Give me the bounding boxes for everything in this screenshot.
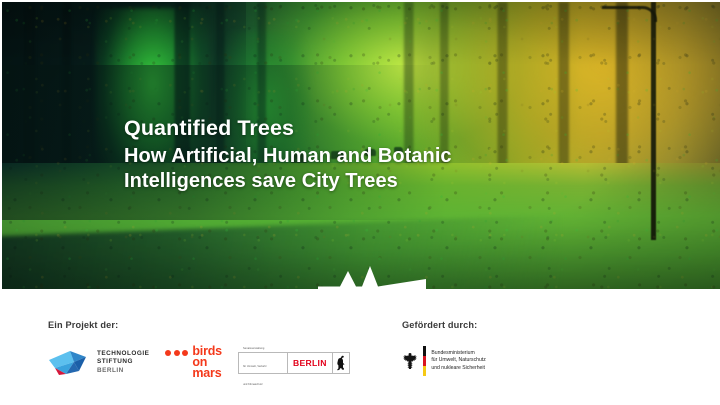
- bmu-line-1: Bundesministerium: [431, 350, 485, 357]
- headline-block: Quantified Trees How Artificial, Human a…: [124, 116, 584, 193]
- page-subtitle-line-2: Intelligences save City Trees: [124, 169, 584, 194]
- hero-image: Quantified Trees How Artificial, Human a…: [2, 2, 720, 289]
- bmu-wordmark: Bundesministerium für Umwelt, Naturschut…: [431, 350, 485, 372]
- birds-on-mars-wordmark: birds on mars: [192, 346, 222, 379]
- page-title: Quantified Trees: [124, 116, 584, 141]
- bear-icon: [336, 355, 346, 371]
- tsb-line-1: TECHNOLOGIE: [97, 350, 149, 359]
- title-slide: Quantified Trees How Artificial, Human a…: [0, 0, 720, 405]
- logo-land-berlin[interactable]: Senatsverwaltung für Umwelt, Verkehr und…: [238, 352, 350, 374]
- page-subtitle-line-1: How Artificial, Human and Botanic: [124, 144, 584, 169]
- funder-logo-row: Bundesministerium für Umwelt, Naturschut…: [402, 346, 486, 376]
- senate-line-3: und Klimaschutz: [243, 383, 263, 386]
- bom-line-3: mars: [192, 368, 222, 379]
- berlin-bear-crest: [333, 353, 349, 373]
- bmu-line-2: für Umwelt, Naturschutz: [431, 357, 485, 364]
- logo-bundesministerium-umwelt[interactable]: Bundesministerium für Umwelt, Naturschut…: [402, 346, 486, 376]
- bmu-line-3: und nukleare Sicherheit: [431, 365, 485, 372]
- senate-line-1: Senatsverwaltung: [243, 347, 264, 350]
- partners-label: Ein Projekt der:: [48, 289, 350, 330]
- federal-eagle-icon: [402, 352, 418, 370]
- tsb-line-3: BERLIN: [97, 367, 149, 376]
- funders-label: Gefördert durch:: [402, 289, 486, 330]
- german-flag-bar-icon: [423, 346, 426, 376]
- footer-column-funders: Gefördert durch: Bundesministerium für U…: [402, 289, 486, 376]
- partner-logo-row: TECHNOLOGIE STIFTUNG BERLIN birds on mar…: [48, 346, 350, 379]
- senate-line-2: für Umwelt, Verkehr: [243, 365, 267, 368]
- footer-bar: Ein Projekt der: TECHNOLOGIE STIFTUNG: [0, 289, 720, 405]
- berlin-senate-department: Senatsverwaltung für Umwelt, Verkehr und…: [239, 353, 288, 373]
- footer-column-partners: Ein Projekt der: TECHNOLOGIE STIFTUNG: [48, 289, 350, 379]
- tsb-line-2: STIFTUNG: [97, 358, 149, 367]
- technologiestiftung-mark-icon: [48, 348, 90, 378]
- birds-on-mars-dots-icon: [165, 346, 188, 356]
- logo-technologiestiftung-berlin[interactable]: TECHNOLOGIE STIFTUNG BERLIN: [48, 348, 149, 378]
- berlin-wordmark: BERLIN: [288, 353, 333, 373]
- berlin-wordmark-text: BERLIN: [293, 358, 327, 368]
- logo-birds-on-mars[interactable]: birds on mars: [165, 346, 222, 379]
- technologiestiftung-wordmark: TECHNOLOGIE STIFTUNG BERLIN: [97, 350, 149, 376]
